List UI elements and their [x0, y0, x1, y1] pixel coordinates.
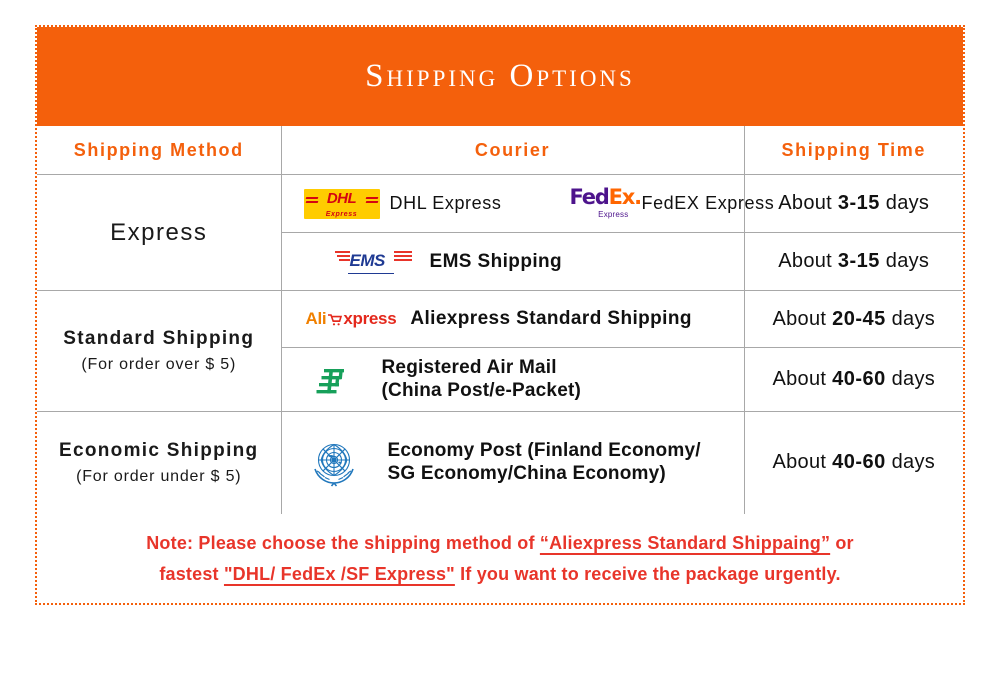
- courier-group: EMS EMS Shipping: [282, 247, 744, 277]
- courier-label-economy: Economy Post (Finland Economy/ SG Econom…: [388, 440, 701, 485]
- header-cell-method: Shipping Method: [37, 126, 281, 175]
- courier-label-chinapost: Registered Air Mail (China Post/e-Packet…: [382, 357, 582, 402]
- courier-label-ems: EMS Shipping: [430, 251, 563, 273]
- courier-label-line1: Registered Air Mail: [382, 357, 557, 378]
- time-suffix: days: [892, 451, 935, 473]
- time-prefix: About: [772, 368, 826, 390]
- shipping-options-banner: Shipping Options Shipping Method Courier…: [0, 0, 1000, 693]
- note-line2-prefix: fastest: [159, 564, 218, 584]
- time-suffix: days: [892, 368, 935, 390]
- un-logo: [308, 438, 360, 488]
- aliexpress-logo: Ali xpress: [306, 307, 397, 331]
- time-range: 3-15: [838, 250, 880, 272]
- method-subtitle: (For order under $ 5): [37, 468, 281, 486]
- shipping-time-value: About 20-45 days: [745, 308, 964, 331]
- column-header-shipping-method: Shipping Method: [37, 126, 281, 174]
- shipping-note: Note: Please choose the shipping method …: [37, 514, 963, 590]
- note-line2: fastest "DHL/ FedEx /SF Express" If you …: [63, 561, 937, 589]
- time-suffix: days: [892, 308, 935, 330]
- shipping-time-value: About 3-15 days: [745, 250, 964, 273]
- time-suffix: days: [886, 192, 929, 214]
- table-row: Express DHL Express DHL Express FedEx.: [37, 175, 963, 233]
- method-subtitle: (For order over $ 5): [37, 356, 281, 374]
- method-title: Standard Shipping: [37, 328, 281, 350]
- column-header-shipping-time: Shipping Time: [745, 126, 964, 174]
- time-range: 20-45: [832, 308, 886, 330]
- note-line1-prefix: Note: Please choose the shipping method …: [146, 533, 534, 553]
- time-range: 40-60: [832, 451, 886, 473]
- courier-cell-chinapost: Registered Air Mail (China Post/e-Packet…: [281, 348, 744, 412]
- courier-group: DHL Express DHL Express FedEx. Express F…: [282, 187, 744, 220]
- time-range: 40-60: [832, 368, 886, 390]
- note-line2-suffix: If you want to receive the package urgen…: [460, 564, 841, 584]
- courier-label-aliexpress: Aliexpress Standard Shipping: [410, 308, 691, 330]
- time-cell-chinapost: About 40-60 days: [744, 348, 963, 412]
- courier-label-line1: Economy Post (Finland Economy/: [388, 440, 701, 461]
- time-prefix: About: [772, 451, 826, 473]
- method-title: Express: [37, 219, 281, 247]
- note-highlight-express: "DHL/ FedEx /SF Express": [224, 564, 455, 584]
- courier-label-line2: SG Economy/China Economy): [388, 463, 666, 484]
- courier-group: Registered Air Mail (China Post/e-Packet…: [282, 357, 744, 402]
- shipping-table-frame: Shipping Options Shipping Method Courier…: [35, 25, 965, 605]
- time-range: 3-15: [838, 192, 880, 214]
- shopping-cart-icon: [327, 312, 342, 327]
- time-prefix: About: [778, 250, 832, 272]
- shipping-time-value: About 3-15 days: [745, 192, 964, 215]
- column-header-courier: Courier: [282, 126, 744, 174]
- method-title: Economic Shipping: [37, 440, 281, 462]
- courier-label-fedex: FedEX Express: [641, 193, 774, 214]
- ems-logo: EMS: [334, 247, 412, 277]
- time-suffix: days: [886, 250, 929, 272]
- time-cell-ems: About 3-15 days: [744, 233, 963, 291]
- time-cell-economy: About 40-60 days: [744, 412, 963, 514]
- courier-cell-express-1: DHL Express DHL Express FedEx. Express F…: [281, 175, 744, 233]
- shipping-time-value: About 40-60 days: [745, 451, 964, 474]
- page-title: Shipping Options: [365, 58, 635, 95]
- note-line1-suffix: or: [835, 533, 853, 553]
- shipping-time-value: About 40-60 days: [745, 368, 964, 391]
- time-cell-aliexpress: About 20-45 days: [744, 291, 963, 348]
- fedex-logo: FedEx. Express: [569, 187, 631, 220]
- method-cell-express: Express: [37, 175, 281, 291]
- courier-group: Economy Post (Finland Economy/ SG Econom…: [282, 438, 744, 488]
- banner-header: Shipping Options: [37, 27, 963, 126]
- courier-cell-economy: Economy Post (Finland Economy/ SG Econom…: [281, 412, 744, 514]
- courier-label-line2: (China Post/e-Packet): [382, 380, 582, 401]
- courier-cell-aliexpress: Ali xpress Aliexpress Standard Shipping: [281, 291, 744, 348]
- method-cell-economic: Economic Shipping (For order under $ 5): [37, 412, 281, 514]
- dhl-logo: DHL Express: [304, 189, 380, 219]
- method-cell-standard: Standard Shipping (For order over $ 5): [37, 291, 281, 412]
- courier-label-dhl: DHL Express: [390, 193, 502, 214]
- note-highlight-aliexpress: “Aliexpress Standard Shippaing”: [540, 533, 830, 553]
- time-prefix: About: [778, 192, 832, 214]
- table-header-row: Shipping Method Courier Shipping Time: [37, 126, 963, 175]
- courier-cell-ems: EMS EMS Shipping: [281, 233, 744, 291]
- chinapost-logo: [314, 360, 354, 400]
- header-cell-time: Shipping Time: [744, 126, 963, 175]
- table-row: Standard Shipping (For order over $ 5) A…: [37, 291, 963, 348]
- header-cell-courier: Courier: [281, 126, 744, 175]
- table-row: Economic Shipping (For order under $ 5): [37, 412, 963, 514]
- courier-group: Ali xpress Aliexpress Standard Shipping: [282, 307, 744, 331]
- shipping-table: Shipping Method Courier Shipping Time Ex…: [37, 126, 963, 514]
- time-prefix: About: [772, 308, 826, 330]
- time-cell-express-1: About 3-15 days: [744, 175, 963, 233]
